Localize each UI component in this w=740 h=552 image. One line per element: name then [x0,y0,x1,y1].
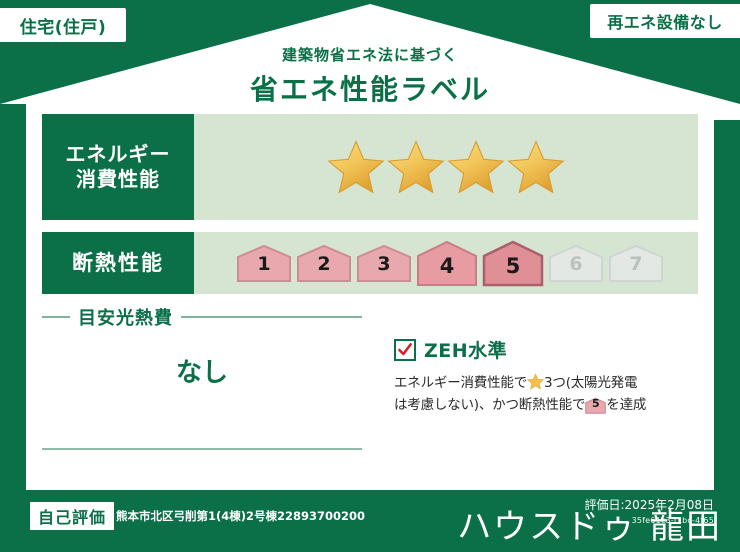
zeh-checkbox [394,339,416,361]
page-title: 省エネ性能ラベル [0,68,740,108]
zeh-desc-part3: を達成 [606,397,646,413]
renewable-energy-tab: 再エネ設備なし [590,4,740,38]
property-address: 熊本市北区弓削第1(4棟)2号棟22893700200 [116,508,365,524]
utility-cost-header: 目安光熱費 [42,304,362,330]
house-badge-icon: 5 [585,397,606,414]
title-subtitle: 建築物省エネ法に基づく [0,44,740,65]
self-evaluation-badge: 自己評価 [30,502,114,530]
star-icon [327,138,385,196]
insulation-grade-1: 1 [236,243,292,283]
zeh-desc-part1: エネルギー消費性能で [394,375,527,391]
insulation-grade-2-value: 2 [317,255,330,283]
zeh-desc-part2: は考慮しない)、かつ断熱性能で [394,397,585,413]
divider-left [42,316,70,318]
energy-performance-label: 住宅(住戸) 再エネ設備なし 建築物省エネ法に基づく 省エネ性能ラベル エネルギ… [0,0,740,552]
insulation-grade-4-value: 4 [440,256,455,287]
zeh-description: エネルギー消費性能で 3つ(太陽光発電 は考慮しない)、かつ断熱性能で 5 を達… [394,372,700,417]
utility-cost-label: 目安光熱費 [78,304,173,330]
insulation-grade-3: 3 [356,243,412,283]
zeh-desc-badge-value: 5 [585,395,606,413]
insulation-performance-row: 断熱性能 1 2 3 [42,232,698,294]
zeh-header: ZEH水準 [394,336,700,363]
insulation-grade-6-value: 6 [569,255,582,283]
building-type-tab: 住宅(住戸) [0,8,126,42]
watermark-overlay: ハウスドゥ 龍田 [457,499,722,548]
insulation-performance-title: 断熱性能 [42,232,194,294]
insulation-grade-4: 4 [416,239,478,287]
insulation-grade-7-value: 7 [629,255,642,283]
utility-cost-bottom-divider [42,448,362,450]
label-title-block: 建築物省エネ法に基づく 省エネ性能ラベル [0,44,740,108]
energy-performance-title: エネルギー 消費性能 [42,114,194,220]
insulation-grade-scale: 1 2 3 4 [194,232,698,294]
energy-star-rating [194,114,698,220]
divider-right [181,316,362,318]
insulation-grade-7: 7 [608,243,664,283]
zeh-title: ZEH水準 [424,336,507,363]
star-icon [527,373,544,390]
star-icon [507,138,565,196]
insulation-grade-6: 6 [548,243,604,283]
star-icon [447,138,505,196]
insulation-grade-2: 2 [296,243,352,283]
insulation-grade-5-value: 5 [506,256,521,287]
zeh-section: ZEH水準 エネルギー消費性能で 3つ(太陽光発電 は考慮しない)、かつ断熱性能… [394,336,700,417]
energy-title-line1: エネルギー [66,142,171,167]
star-icon [387,138,445,196]
insulation-grade-3-value: 3 [377,255,390,283]
energy-title-line2: 消費性能 [76,167,160,192]
check-icon [397,342,413,358]
label-body-panel: エネルギー 消費性能 [26,104,714,490]
energy-performance-row: エネルギー 消費性能 [42,114,698,220]
zeh-desc-stars: 3つ(太陽光発電 [544,375,637,391]
utility-cost-value: なし [42,352,362,389]
insulation-grade-5: 5 [482,239,544,287]
insulation-grade-1-value: 1 [257,255,270,283]
